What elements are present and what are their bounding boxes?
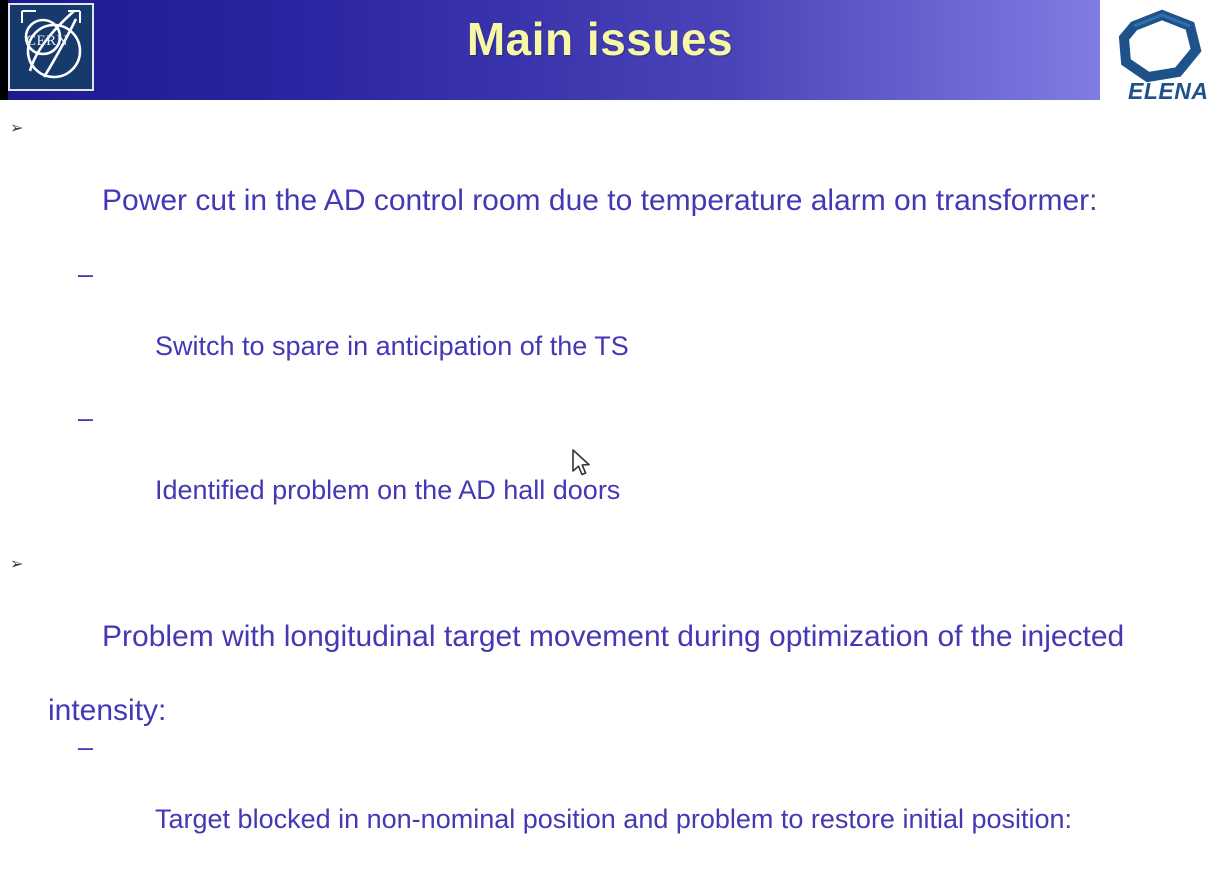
bullet-dot-icon: • bbox=[124, 873, 133, 879]
page-title: Main issues bbox=[150, 11, 1050, 67]
slide-body: ➢ Power cut in the AD control room due t… bbox=[0, 108, 1210, 879]
cern-logo: CERN bbox=[8, 3, 94, 91]
bullet-arrow-icon: ➢ bbox=[10, 546, 23, 583]
svg-text:ELENA: ELENA bbox=[1128, 78, 1208, 104]
bullet-level2: – Identified problem on the AD hall door… bbox=[0, 400, 1210, 544]
bullet-arrow-icon: ➢ bbox=[10, 110, 23, 147]
bullet-level1: ➢ Problem with longitudinal target movem… bbox=[0, 544, 1210, 692]
bullet-text: Power cut in the AD control room due to … bbox=[102, 184, 1097, 217]
header-left-edge bbox=[0, 0, 8, 100]
bullet-level1-continuation: intensity: bbox=[0, 692, 1210, 729]
bullet-level2: – Target blocked in non-nominal position… bbox=[0, 729, 1210, 873]
elena-logo: ELENA bbox=[1104, 2, 1208, 104]
bullet-dash-icon: – bbox=[78, 400, 93, 436]
bullet-text: Problem with longitudinal target movemen… bbox=[102, 620, 1124, 653]
header-underline bbox=[0, 100, 1210, 108]
svg-text:CERN: CERN bbox=[26, 33, 68, 49]
cern-logo-graphic: CERN bbox=[10, 5, 92, 89]
bullet-level2: – Switch to spare in anticipation of the… bbox=[0, 256, 1210, 400]
bullet-text: Switch to spare in anticipation of the T… bbox=[155, 331, 629, 361]
bullet-dash-icon: – bbox=[78, 729, 93, 765]
slide-header: Main issues bbox=[0, 0, 1210, 100]
bullet-text: Target blocked in non-nominal position a… bbox=[155, 804, 1072, 834]
elena-logo-graphic: ELENA bbox=[1104, 2, 1208, 104]
bullet-text: Identified problem on the AD hall doors bbox=[155, 475, 620, 505]
bullet-level1: ➢ Power cut in the AD control room due t… bbox=[0, 108, 1210, 256]
bullet-dash-icon: – bbox=[78, 256, 93, 292]
slide: Main issues CERN bbox=[0, 0, 1210, 879]
bullet-level3: • Suspect problem with compressed air + … bbox=[0, 873, 1210, 879]
